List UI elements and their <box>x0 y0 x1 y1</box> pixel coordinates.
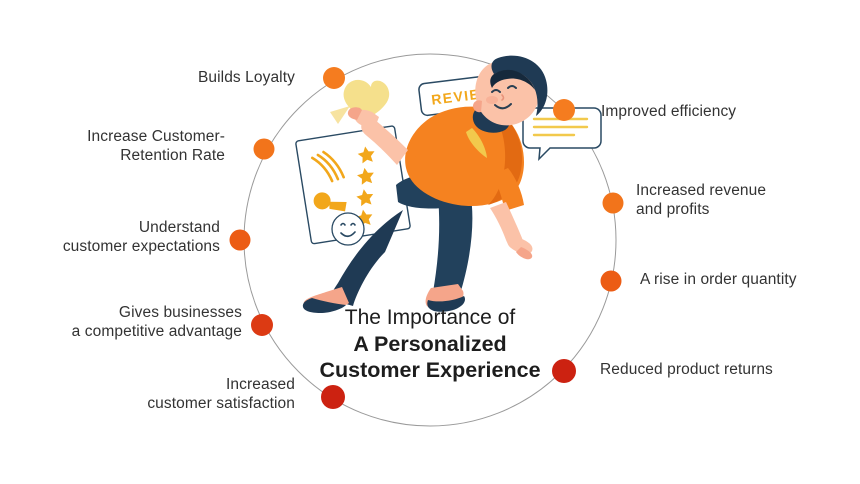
infographic-canvas: REVIEW <box>0 0 860 484</box>
node-dot-increased-revenue[interactable] <box>603 193 624 214</box>
label-customer-satisfaction: Increased customer satisfaction <box>80 375 295 413</box>
smiley-icon <box>332 213 364 245</box>
title-line-2: A Personalized <box>265 331 595 357</box>
node-dot-customer-satisfaction[interactable] <box>321 385 345 409</box>
label-reduced-returns: Reduced product returns <box>600 360 850 379</box>
label-improved-efficiency: Improved efficiency <box>601 102 851 121</box>
node-dot-customer-expectations[interactable] <box>230 230 251 251</box>
label-competitive-advantage: Gives businesses a competitive advantage <box>20 303 242 341</box>
label-order-quantity: A rise in order quantity <box>640 270 855 289</box>
title-line-1: The Importance of <box>265 305 595 331</box>
node-dot-improved-efficiency[interactable] <box>553 99 575 121</box>
label-retention-rate: Increase Customer- Retention Rate <box>30 127 225 165</box>
label-builds-loyalty: Builds Loyalty <box>30 68 295 87</box>
node-dot-builds-loyalty[interactable] <box>323 67 345 89</box>
node-dot-retention-rate[interactable] <box>254 139 275 160</box>
title-line-3: Customer Experience <box>265 357 595 383</box>
node-dot-order-quantity[interactable] <box>601 271 622 292</box>
label-increased-revenue: Increased revenue and profits <box>636 181 846 219</box>
label-customer-expectations: Understand customer expectations <box>20 218 220 256</box>
